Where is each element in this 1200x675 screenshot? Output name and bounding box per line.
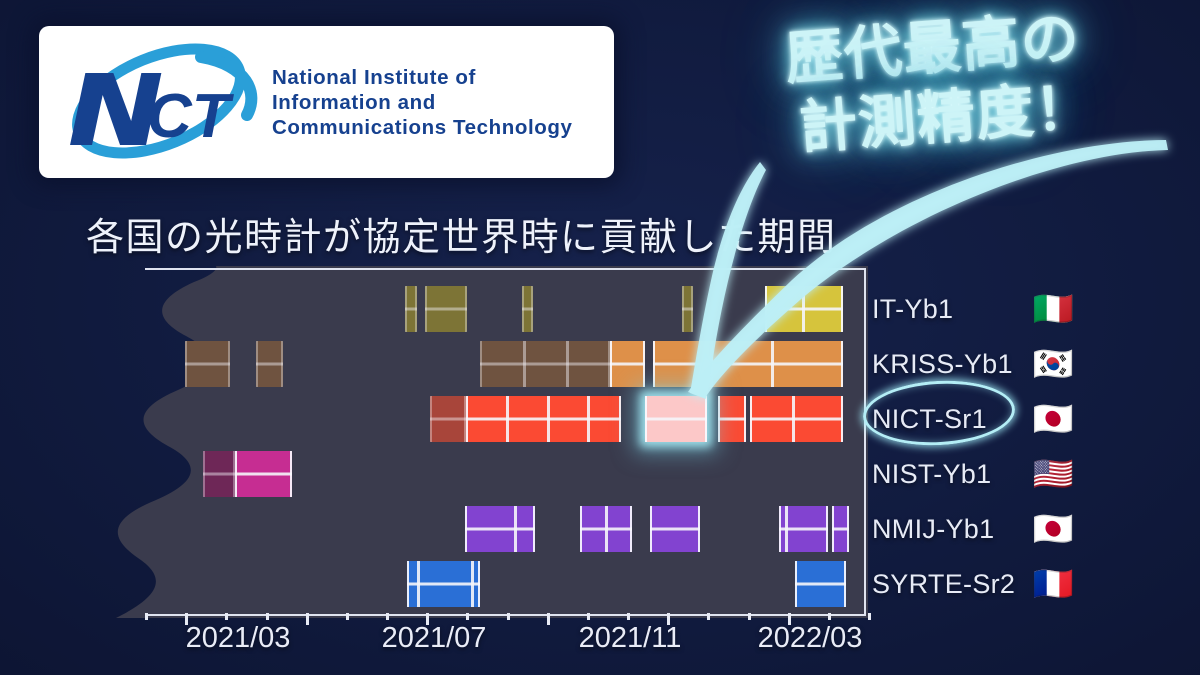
bar-edge xyxy=(407,561,480,607)
legend-row-kriss-yb1[interactable]: KRISS-Yb1🇰🇷 xyxy=(872,341,1172,387)
bar-edge xyxy=(779,506,828,552)
legend-clock-name: KRISS-Yb1 xyxy=(872,349,1013,380)
timeline-bar xyxy=(750,396,843,442)
timeline-bar xyxy=(795,561,846,607)
headline-line-1: 歴代最高の xyxy=(783,5,1082,91)
flag-icon-japan: 🇯🇵 xyxy=(1024,509,1082,549)
legend-row-nict-sr1[interactable]: NICT-Sr1🇯🇵 xyxy=(872,396,1172,442)
bar-edge xyxy=(522,286,533,332)
x-axis-tick-label: 2021/11 xyxy=(579,622,682,655)
slide-canvas: CT National Institute of Information and… xyxy=(0,0,1200,675)
timeline-bar xyxy=(779,506,828,552)
bar-edge xyxy=(466,396,621,442)
timeline-row xyxy=(98,506,868,552)
timeline-bar xyxy=(765,286,843,332)
timeline-row xyxy=(98,286,868,332)
flag-icon-united-states: 🇺🇸 xyxy=(1024,454,1082,494)
bar-edge xyxy=(580,506,632,552)
x-axis-minor-tick xyxy=(748,613,751,620)
x-axis-minor-tick xyxy=(707,613,710,620)
bar-edge xyxy=(430,396,466,442)
bar-edge xyxy=(645,396,707,442)
x-axis-minor-tick xyxy=(587,613,590,620)
bar-edge xyxy=(682,286,693,332)
legend-row-it-yb1[interactable]: IT-Yb1🇮🇹 xyxy=(872,286,1172,332)
flag-icon-italy: 🇮🇹 xyxy=(1024,289,1082,329)
x-axis-minor-tick xyxy=(225,613,228,620)
timeline-bar xyxy=(425,286,467,332)
chart-title: 各国の光時計が協定世界時に貢献した期間 xyxy=(86,206,837,261)
bar-edge xyxy=(235,451,292,497)
flag-icon-france: 🇫🇷 xyxy=(1024,564,1082,604)
timeline-bar xyxy=(580,506,632,552)
timeline-bar xyxy=(718,396,746,442)
timeline-bar xyxy=(832,506,849,552)
timeline-bar xyxy=(430,396,466,442)
bar-edge xyxy=(653,341,843,387)
legend-clock-name: NIST-Yb1 xyxy=(872,459,991,490)
bar-edge xyxy=(465,506,535,552)
bar-edge xyxy=(750,396,843,442)
legend-clock-name: NMIJ-Yb1 xyxy=(872,514,994,545)
x-axis-labels: 2021/032021/072021/112022/03 xyxy=(0,622,1200,664)
x-axis-minor-tick xyxy=(868,613,871,620)
bar-edge xyxy=(425,286,467,332)
bar-edge xyxy=(480,341,610,387)
legend-row-nmij-yb1[interactable]: NMIJ-Yb1🇯🇵 xyxy=(872,506,1172,552)
svg-text:CT: CT xyxy=(147,82,235,151)
bar-edge xyxy=(832,506,849,552)
timeline-bar xyxy=(650,506,700,552)
bar-edge xyxy=(795,561,846,607)
x-axis-minor-tick xyxy=(346,613,349,620)
bar-edge xyxy=(405,286,417,332)
x-axis-minor-tick xyxy=(386,613,389,620)
nict-logo-card: CT National Institute of Information and… xyxy=(39,26,614,178)
x-axis-minor-tick xyxy=(266,613,269,620)
timeline-bar xyxy=(256,341,283,387)
timeline-row xyxy=(98,451,868,497)
timeline-bar xyxy=(465,506,535,552)
legend-row-syrte-sr2[interactable]: SYRTE-Sr2🇫🇷 xyxy=(872,561,1172,607)
timeline-bar xyxy=(653,341,843,387)
timeline-row xyxy=(98,561,868,607)
timeline-bar xyxy=(522,286,533,332)
timeline-row xyxy=(98,341,868,387)
bar-edge xyxy=(765,286,843,332)
legend-row-nist-yb1[interactable]: NIST-Yb1🇺🇸 xyxy=(872,451,1172,497)
x-axis-tick-label: 2022/03 xyxy=(758,622,863,655)
x-axis-tick-label: 2021/03 xyxy=(186,622,291,655)
flag-icon-south-korea: 🇰🇷 xyxy=(1024,344,1082,384)
bar-edge xyxy=(256,341,283,387)
organization-name: National Institute of Information and Co… xyxy=(272,65,573,140)
timeline-plot-panel xyxy=(98,266,868,618)
legend-clock-name: NICT-Sr1 xyxy=(872,404,987,435)
nict-swoosh-logo-icon: CT xyxy=(51,37,266,167)
clock-legend: IT-Yb1🇮🇹KRISS-Yb1🇰🇷NICT-Sr1🇯🇵NIST-Yb1🇺🇸N… xyxy=(872,266,1172,618)
timeline-bar-highlighted xyxy=(645,396,707,442)
timeline-bar xyxy=(405,286,417,332)
timeline-bar xyxy=(185,341,230,387)
x-axis-minor-tick xyxy=(507,613,510,620)
timeline-bar xyxy=(480,341,610,387)
legend-clock-name: IT-Yb1 xyxy=(872,294,953,325)
x-axis-minor-tick xyxy=(145,613,148,620)
bar-edge xyxy=(650,506,700,552)
bar-edge xyxy=(610,341,645,387)
x-axis-tick-label: 2021/07 xyxy=(382,622,487,655)
legend-clock-name: SYRTE-Sr2 xyxy=(872,569,1015,600)
bar-edge xyxy=(203,451,235,497)
bar-edge xyxy=(185,341,230,387)
timeline-row xyxy=(98,396,868,442)
flag-icon-japan: 🇯🇵 xyxy=(1024,399,1082,439)
headline-line-2: 計測精度！ xyxy=(719,67,1175,170)
timeline-bar xyxy=(203,451,235,497)
x-axis-minor-tick xyxy=(627,613,630,620)
timeline-bar xyxy=(466,396,621,442)
timeline-bar xyxy=(610,341,645,387)
timeline-bar xyxy=(235,451,292,497)
timeline-bar xyxy=(407,561,480,607)
bar-edge xyxy=(718,396,746,442)
timeline-bar xyxy=(682,286,693,332)
x-axis-minor-tick xyxy=(466,613,469,620)
x-axis-minor-tick xyxy=(828,613,831,620)
headline-annotation: 歴代最高の 計測精度！ xyxy=(696,0,1175,171)
